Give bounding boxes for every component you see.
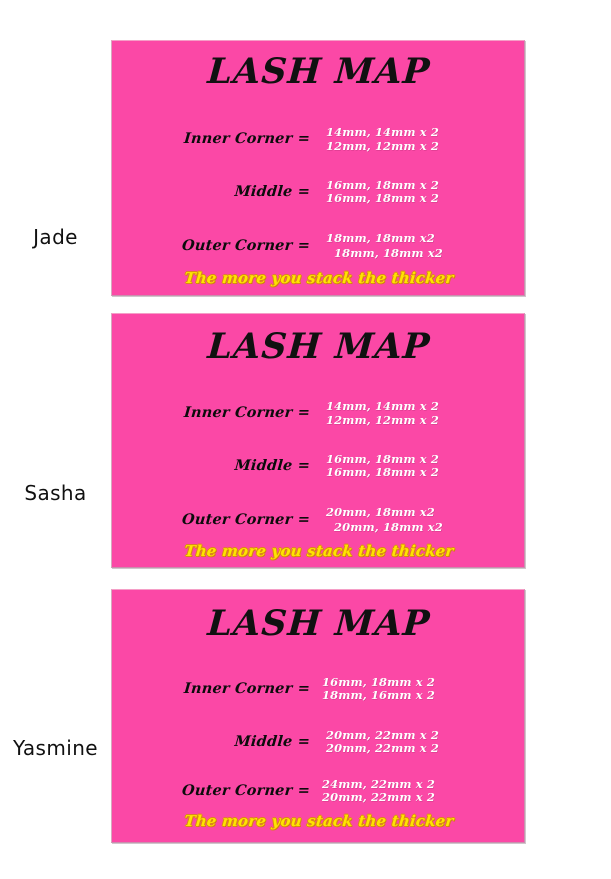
lash-value-line: 16mm, 18mm x 2 bbox=[322, 676, 525, 689]
lash-value-line: 20mm, 22mm x 2 bbox=[326, 742, 525, 755]
card-tagline: The more you stack the thicker bbox=[111, 812, 525, 830]
lash-row-values: 14mm, 14mm x 2 12mm, 12mm x 2 bbox=[316, 399, 525, 428]
lash-row-values: 16mm, 18mm x 2 16mm, 18mm x 2 bbox=[316, 453, 525, 479]
client-name-label: Sasha bbox=[0, 481, 111, 505]
lash-row-values: 20mm, 22mm x 2 20mm, 22mm x 2 bbox=[316, 729, 525, 755]
lash-value-line: 14mm, 14mm x 2 bbox=[326, 399, 525, 413]
lash-value-line: 12mm, 12mm x 2 bbox=[326, 413, 525, 427]
lash-value-line: 20mm, 18mm x2 bbox=[326, 520, 525, 535]
lash-row-inner-corner: Inner Corner = 16mm, 18mm x 2 18mm, 16mm… bbox=[112, 668, 525, 710]
lash-map-card: LASH MAP Inner Corner = 14mm, 14mm x 2 1… bbox=[111, 40, 525, 296]
card-title: LASH MAP bbox=[111, 603, 525, 644]
lash-row-outer-corner: Outer Corner = 20mm, 18mm x2 20mm, 18mm … bbox=[112, 497, 525, 543]
lash-value-line: 20mm, 22mm x 2 bbox=[322, 791, 525, 804]
client-block-1: Jade LASH MAP Inner Corner = 14mm, 14mm … bbox=[0, 40, 611, 296]
lash-value-line: 18mm, 18mm x2 bbox=[326, 231, 525, 246]
lash-row-outer-corner: Outer Corner = 24mm, 22mm x 2 20mm, 22mm… bbox=[112, 770, 525, 812]
lash-row-middle: Middle = 20mm, 22mm x 2 20mm, 22mm x 2 bbox=[112, 721, 525, 763]
lash-row-label: Middle = bbox=[111, 458, 316, 475]
lash-row-values: 14mm, 14mm x 2 12mm, 12mm x 2 bbox=[316, 125, 525, 154]
lash-value-line: 18mm, 18mm x2 bbox=[326, 246, 525, 261]
card-tagline: The more you stack the thicker bbox=[111, 269, 525, 287]
card-title: LASH MAP bbox=[111, 326, 525, 367]
lash-value-line: 12mm, 12mm x 2 bbox=[326, 139, 525, 153]
lash-row-values: 16mm, 18mm x 2 16mm, 18mm x 2 bbox=[316, 179, 525, 205]
lash-row-label: Outer Corner = bbox=[111, 238, 316, 255]
lash-row-label: Inner Corner = bbox=[111, 131, 316, 148]
lash-row-label: Outer Corner = bbox=[111, 512, 316, 529]
lash-value-line: 20mm, 18mm x2 bbox=[326, 505, 525, 520]
client-name-label: Jade bbox=[0, 225, 111, 249]
lash-row-label: Outer Corner = bbox=[111, 783, 316, 800]
lash-row-inner-corner: Inner Corner = 14mm, 14mm x 2 12mm, 12mm… bbox=[112, 116, 525, 162]
lash-row-label: Inner Corner = bbox=[111, 681, 316, 698]
lash-row-label: Middle = bbox=[111, 734, 316, 751]
lash-map-sheet: Jade LASH MAP Inner Corner = 14mm, 14mm … bbox=[0, 0, 611, 879]
lash-value-line: 18mm, 16mm x 2 bbox=[322, 689, 525, 702]
lash-map-card: LASH MAP Inner Corner = 14mm, 14mm x 2 1… bbox=[111, 313, 525, 568]
client-block-2: Sasha LASH MAP Inner Corner = 14mm, 14mm… bbox=[0, 313, 611, 568]
lash-row-outer-corner: Outer Corner = 18mm, 18mm x2 18mm, 18mm … bbox=[112, 223, 525, 269]
lash-value-line: 14mm, 14mm x 2 bbox=[326, 125, 525, 139]
lash-row-values: 18mm, 18mm x2 18mm, 18mm x2 bbox=[316, 231, 525, 261]
lash-row-values: 24mm, 22mm x 2 20mm, 22mm x 2 bbox=[316, 778, 525, 804]
lash-row-values: 20mm, 18mm x2 20mm, 18mm x2 bbox=[316, 505, 525, 535]
card-title: LASH MAP bbox=[111, 51, 525, 92]
client-block-3: Yasmine LASH MAP Inner Corner = 16mm, 18… bbox=[0, 589, 611, 843]
lash-value-line: 16mm, 18mm x 2 bbox=[326, 192, 525, 205]
lash-map-card: LASH MAP Inner Corner = 16mm, 18mm x 2 1… bbox=[111, 589, 525, 843]
lash-value-line: 16mm, 18mm x 2 bbox=[326, 466, 525, 479]
card-tagline: The more you stack the thicker bbox=[111, 542, 525, 560]
lash-row-inner-corner: Inner Corner = 14mm, 14mm x 2 12mm, 12mm… bbox=[112, 390, 525, 436]
lash-row-values: 16mm, 18mm x 2 18mm, 16mm x 2 bbox=[316, 676, 525, 703]
lash-row-label: Inner Corner = bbox=[111, 405, 316, 422]
lash-row-label: Middle = bbox=[111, 184, 316, 201]
lash-row-middle: Middle = 16mm, 18mm x 2 16mm, 18mm x 2 bbox=[112, 444, 525, 488]
client-name-label: Yasmine bbox=[0, 736, 111, 760]
lash-row-middle: Middle = 16mm, 18mm x 2 16mm, 18mm x 2 bbox=[112, 170, 525, 214]
